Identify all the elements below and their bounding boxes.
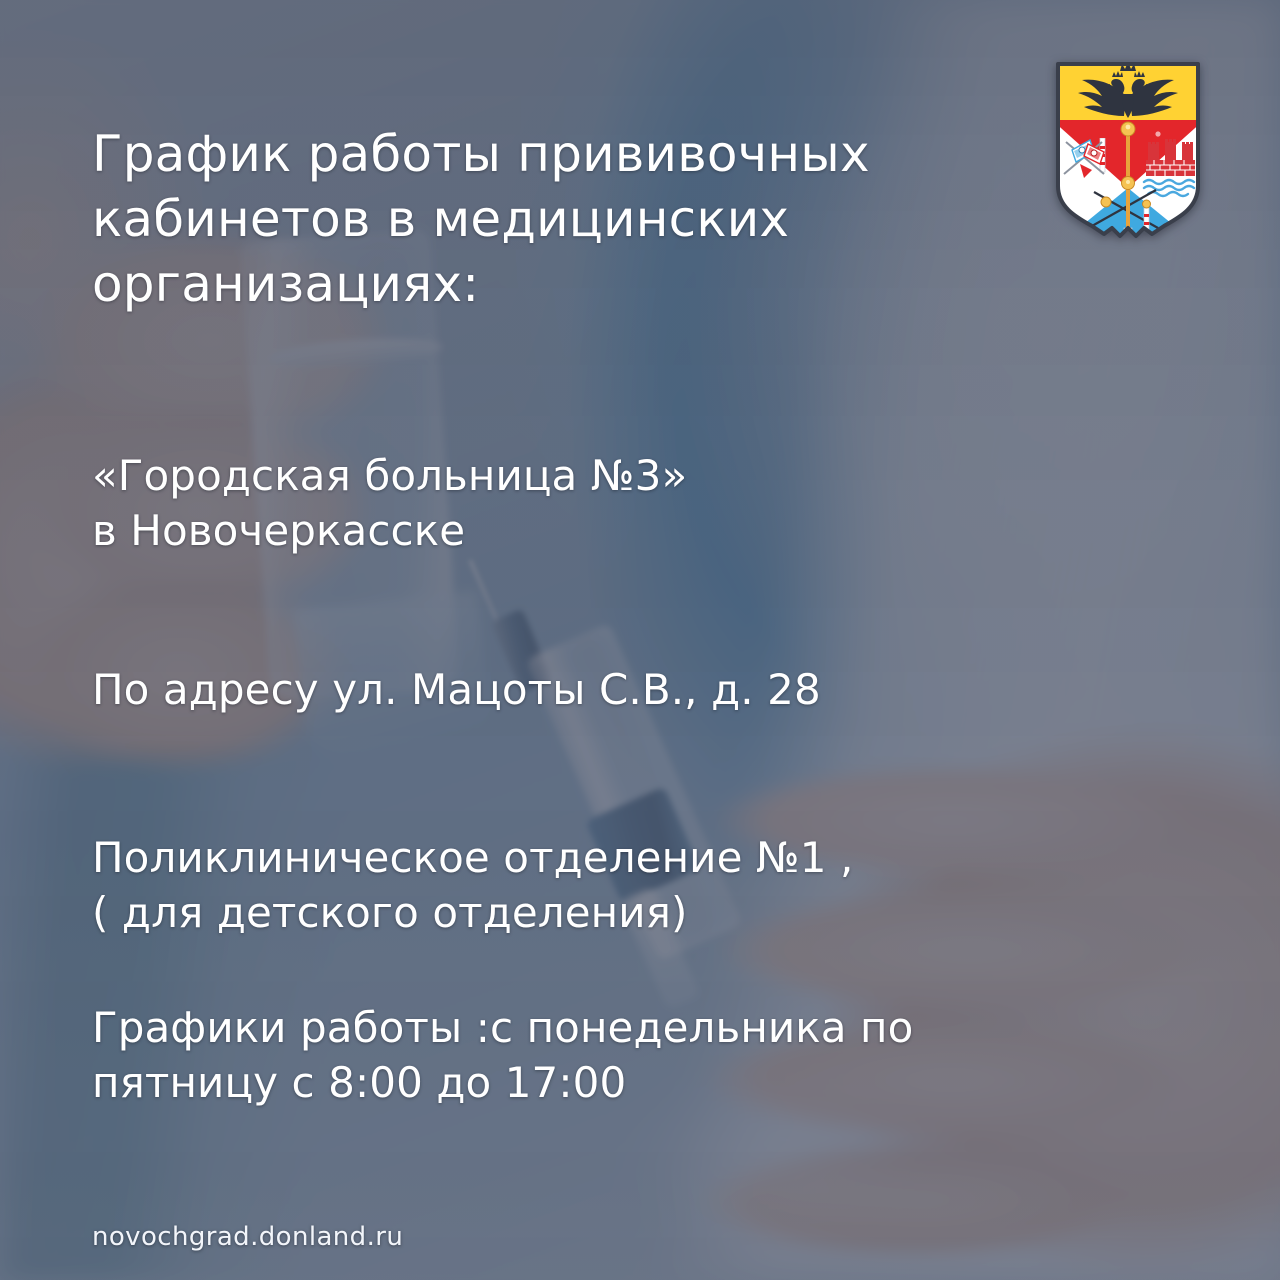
page-title: График работы прививочных кабинетов в ме… <box>92 122 992 317</box>
hospital-name-text: «Городская больница №3» в Новочеркасске <box>92 448 687 559</box>
coat-of-arms-icon <box>1052 58 1204 250</box>
poster-canvas: График работы прививочных кабинетов в ме… <box>0 0 1280 1280</box>
department-text: Поликлиническое отделение №1 , ( для дет… <box>92 830 853 941</box>
working-hours-text: Графики работы :с понедельника по пятниц… <box>92 1000 1052 1111</box>
website-url[interactable]: novochgrad.donland.ru <box>92 1222 403 1252</box>
address-text: По адресу ул. Мацоты С.В., д. 28 <box>92 662 821 717</box>
